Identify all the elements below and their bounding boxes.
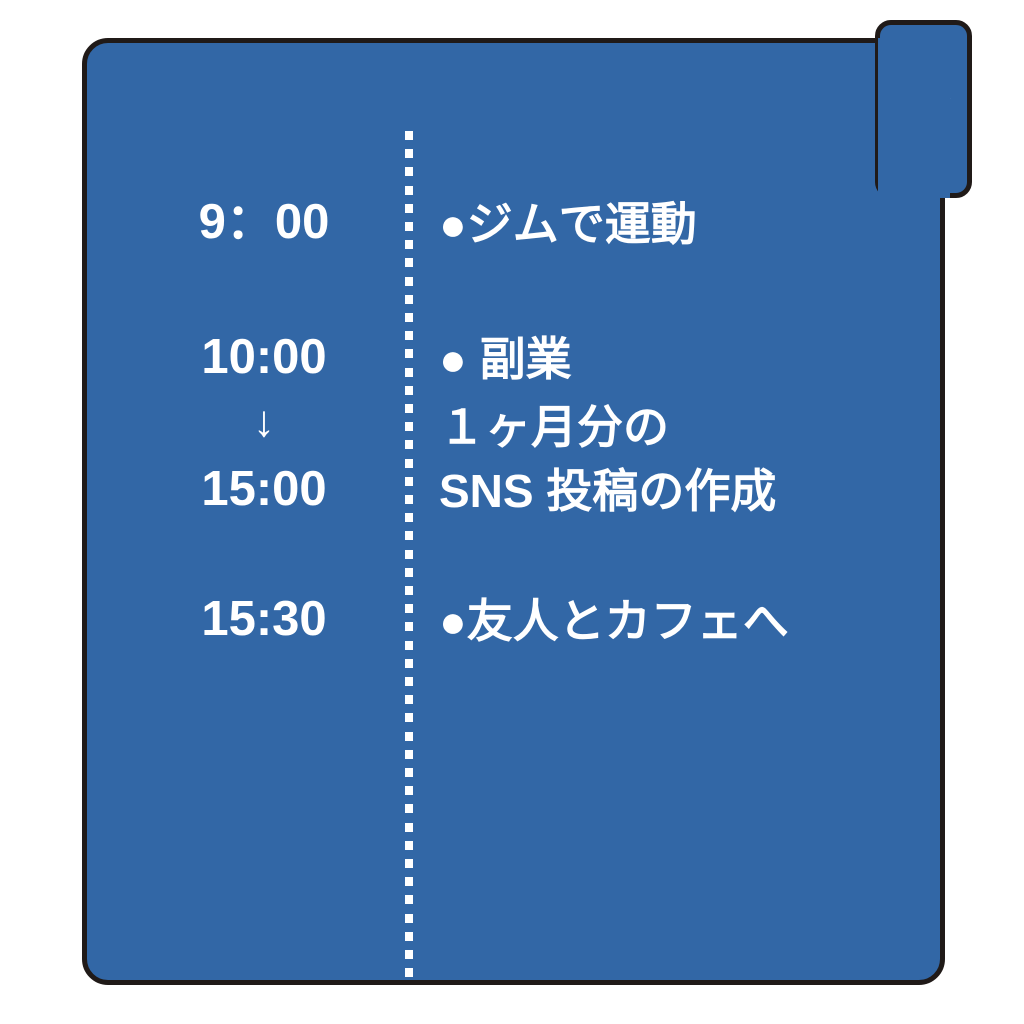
schedule-activity-2-line3: SNS 投稿の作成	[439, 458, 1019, 524]
schedule-canvas: 9：00 ●ジムで運動 10:00 ↓ 15:00 ● 副業 １ヶ月分の SNS…	[0, 0, 1024, 1024]
schedule-card: 9：00 ●ジムで運動 10:00 ↓ 15:00 ● 副業 １ヶ月分の SNS…	[82, 38, 945, 985]
schedule-time-2-end: 15:00	[155, 460, 373, 518]
schedule-time-2-start: 10:00	[155, 328, 373, 386]
tab-seam	[878, 38, 950, 198]
schedule-activity-2-line2: １ヶ月分の	[439, 394, 1019, 460]
schedule-time-3: 15:30	[155, 590, 373, 648]
schedule-activity-3: ●友人とカフェへ	[439, 588, 1019, 654]
schedule-rows: 9：00 ●ジムで運動 10:00 ↓ 15:00 ● 副業 １ヶ月分の SNS…	[87, 43, 940, 980]
schedule-time-1: 9：00	[155, 193, 373, 251]
down-arrow-icon: ↓	[155, 396, 373, 448]
schedule-activity-2-line1: ● 副業	[439, 326, 1019, 392]
schedule-activity-1: ●ジムで運動	[439, 191, 1019, 257]
